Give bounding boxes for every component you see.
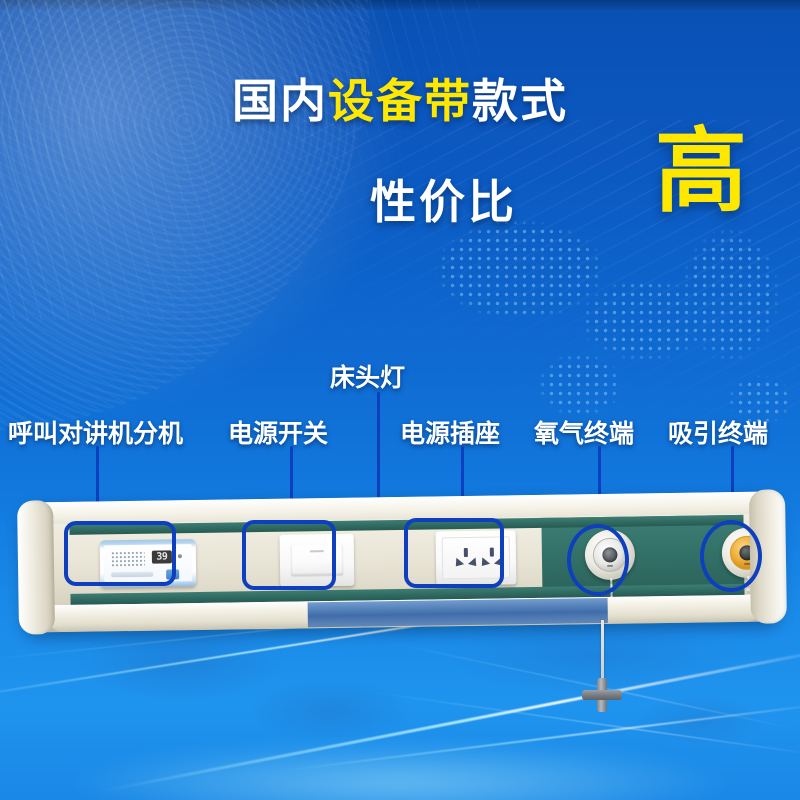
switch-mark-icon — [310, 550, 324, 552]
panel-rail-blue-section — [308, 598, 608, 627]
indicator-led-icon — [178, 554, 182, 558]
callout-power-switch: 电源开关 — [228, 414, 328, 450]
medical-bed-head-unit: 39 — [21, 491, 781, 632]
hook-horizontal-bar — [582, 690, 622, 700]
intercom-display: 39 — [152, 550, 172, 563]
callout-layer: 呼叫对讲机分机 电源开关 床头灯 电源插座 氧气终端 吸引终端 — [0, 0, 800, 800]
speaker-grille-icon — [111, 551, 145, 568]
intercom-call-button[interactable] — [166, 569, 179, 579]
callout-oxygen-terminal: 氧气终端 — [534, 414, 634, 450]
callout-power-socket: 电源插座 — [400, 414, 500, 450]
socket-pin-icon — [494, 557, 506, 569]
socket-pin-group — [453, 548, 479, 572]
power-socket[interactable] — [436, 530, 517, 585]
switch-rocker[interactable] — [291, 544, 343, 576]
panel-endcap-right — [749, 489, 787, 624]
callout-intercom: 呼叫对讲机分机 — [8, 414, 183, 450]
panel-endcap-left — [17, 500, 55, 635]
nurse-call-intercom[interactable]: 39 — [100, 539, 197, 587]
callout-bed-lamp: 床头灯 — [330, 358, 405, 394]
power-switch[interactable] — [280, 534, 355, 587]
panel-body: 39 — [21, 491, 781, 632]
poster-canvas: 国内设备带款式 性价比 高 呼叫对讲机分机 电源开关 床头灯 电源插座 氧气终端… — [0, 0, 800, 800]
socket-faceplate — [442, 536, 511, 579]
socket-pin-icon — [464, 548, 468, 557]
socket-pin-icon — [452, 558, 464, 570]
socket-pin-icon — [478, 557, 490, 569]
intercom-slot — [111, 572, 153, 578]
oxygen-terminal-mark — [607, 564, 613, 567]
callout-suction-terminal: 吸引终端 — [668, 414, 768, 450]
socket-pin-group — [479, 547, 505, 571]
socket-pin-icon — [490, 548, 494, 557]
oxygen-terminal-port-icon — [602, 547, 617, 562]
cord-hook-icon — [582, 678, 622, 712]
intercom-face: 39 — [104, 544, 193, 582]
